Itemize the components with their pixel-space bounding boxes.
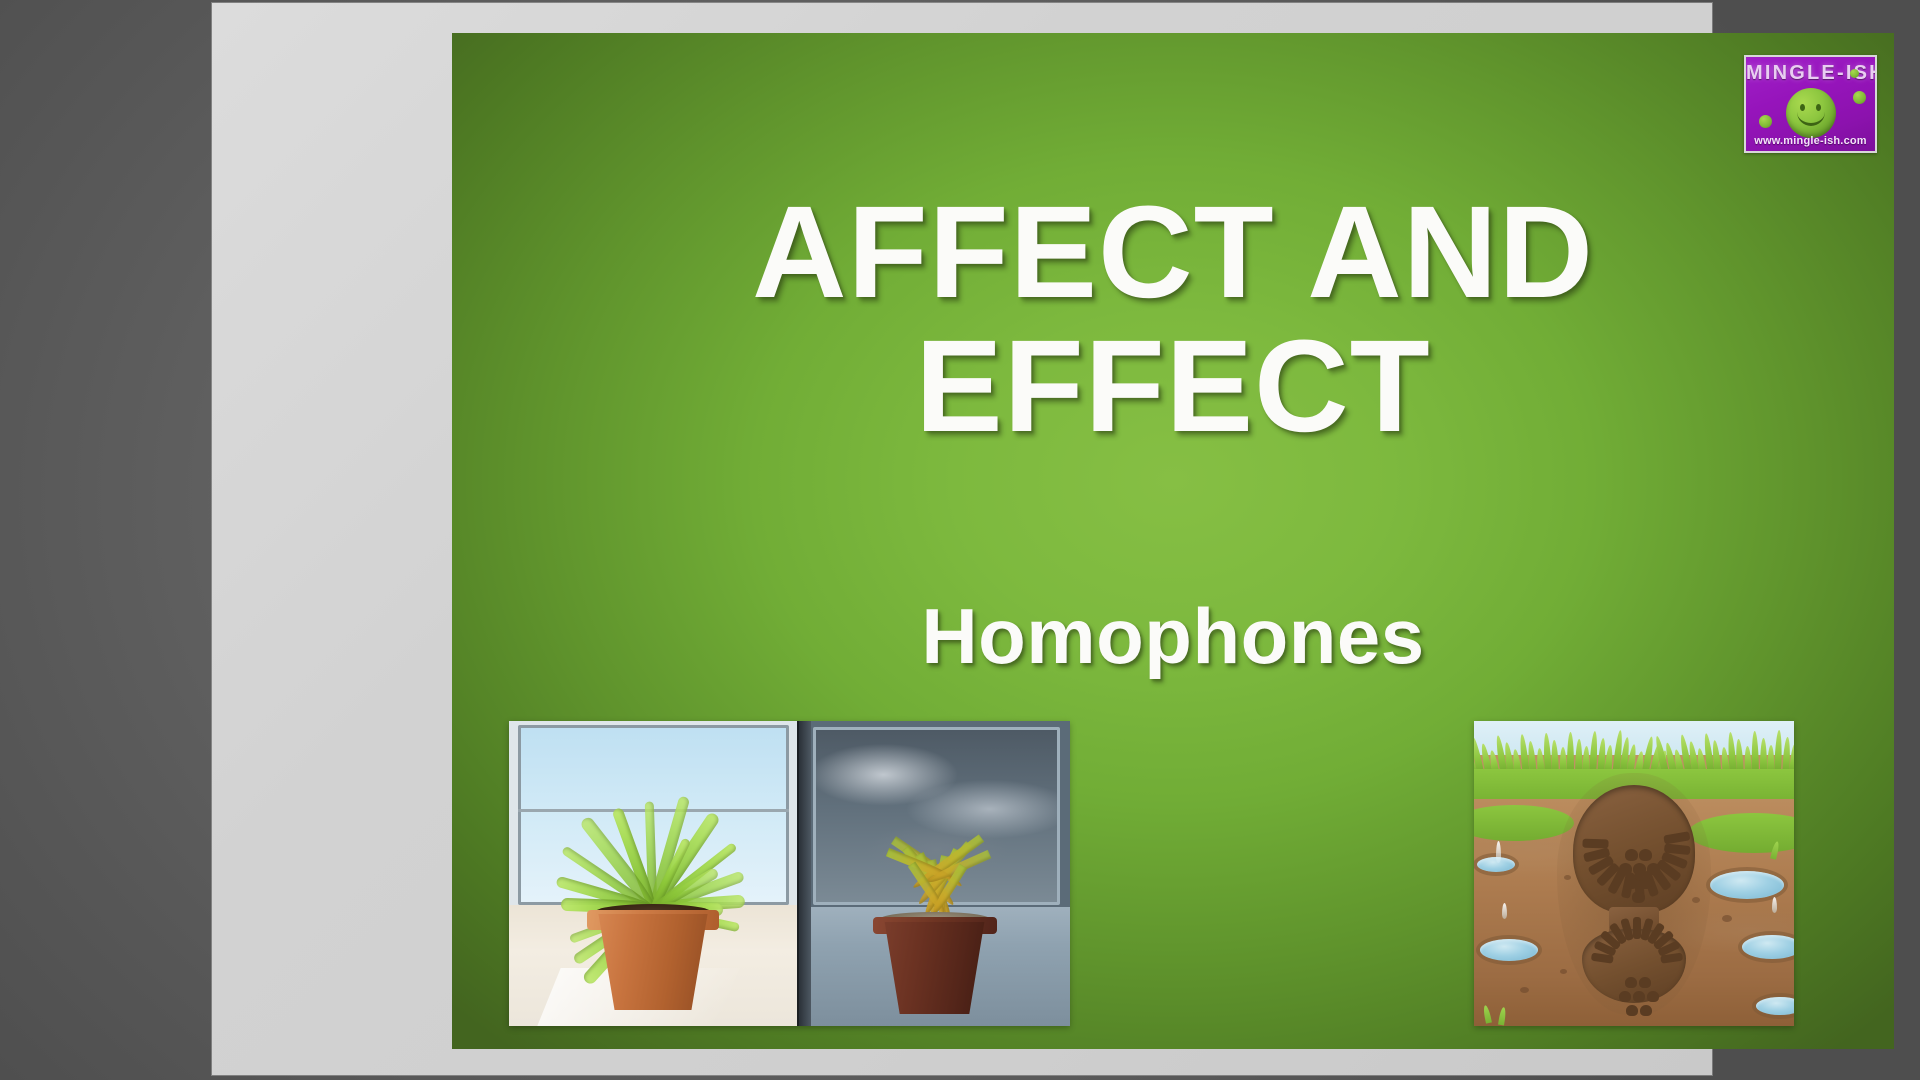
raindrop (1502, 903, 1507, 919)
smiley-face-icon (1786, 88, 1836, 138)
tread-stud (1647, 863, 1660, 875)
logo-website-url[interactable]: www.mingle-ish.com (1746, 135, 1875, 147)
logo-bubble-icon (1850, 69, 1859, 78)
healthy-fern-photo (509, 721, 797, 1026)
boot-sole-print (1573, 785, 1695, 1003)
logo-bubble-icon (1759, 115, 1772, 128)
mud-speck (1560, 969, 1567, 974)
smiley-mouth (1797, 112, 1825, 126)
logo-bubble-icon (1853, 91, 1866, 104)
tread-stud (1619, 863, 1632, 875)
puddle (1480, 939, 1538, 961)
smiley-left-eye (1800, 104, 1805, 111)
smiley-right-eye (1816, 104, 1821, 111)
tread-stud (1619, 991, 1631, 1002)
title-line-1: AFFECT AND (452, 185, 1894, 319)
presentation-frame: MINGLE-ISH www.mingle-ish.com AFFECT AND… (212, 3, 1712, 1075)
window-frame-edge (799, 721, 811, 1026)
tread-lug (1582, 839, 1608, 849)
wilted-plant-photo (797, 721, 1070, 1026)
mingle-ish-logo[interactable]: MINGLE-ISH www.mingle-ish.com (1744, 55, 1877, 153)
page-subtitle: Homophones (452, 591, 1894, 682)
tread-stud (1633, 863, 1646, 875)
tread-stud (1632, 891, 1645, 903)
slide-canvas: MINGLE-ISH www.mingle-ish.com AFFECT AND… (452, 33, 1894, 1049)
plant-photo-pair (509, 721, 1070, 1026)
tread-stud (1626, 1005, 1638, 1016)
mud-speck (1722, 915, 1732, 922)
raindrop (1772, 897, 1777, 913)
puddle (1742, 935, 1794, 959)
tread-stud (1625, 877, 1638, 889)
boot-print-illustration (1474, 721, 1794, 1026)
tread-stud (1625, 977, 1637, 988)
page-title: AFFECT AND EFFECT (452, 185, 1894, 452)
tread-stud (1640, 1005, 1652, 1016)
mud-speck (1520, 987, 1529, 993)
puddle (1710, 871, 1784, 899)
tread-stud (1639, 877, 1652, 889)
tread-stud (1633, 991, 1645, 1002)
tread-stud (1625, 849, 1638, 861)
tread-stud (1647, 991, 1659, 1002)
title-line-2: EFFECT (452, 319, 1894, 453)
tread-stud (1639, 977, 1651, 988)
tread-stud (1639, 849, 1652, 861)
